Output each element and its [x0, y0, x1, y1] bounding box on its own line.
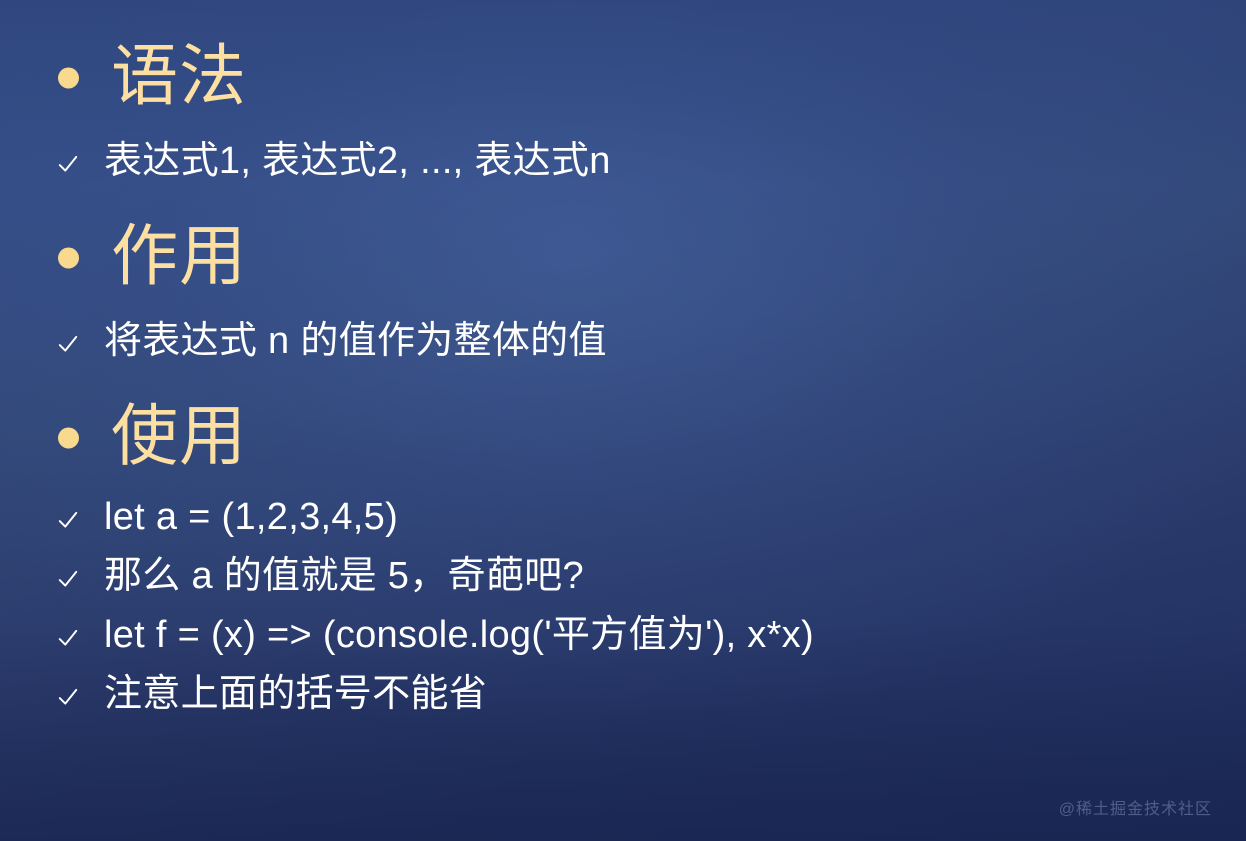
check-icon: [57, 568, 79, 590]
list-item-label: 表达式1, 表达式2, ..., 表达式n: [104, 141, 611, 179]
section-purpose: 作用 将表达式 n 的值作为整体的值: [0, 216, 1246, 300]
section-heading-row: 使用: [0, 396, 1246, 480]
list-item-label: 将表达式 n 的值作为整体的值: [104, 321, 607, 359]
list-item: 将表达式 n 的值作为整体的值: [0, 313, 1246, 370]
list-item-label: let f = (x) => (console.log('平方值为'), x*x…: [104, 615, 814, 653]
section-syntax: 语法 表达式1, 表达式2, ..., 表达式n: [0, 36, 1246, 120]
list-item: let f = (x) => (console.log('平方值为'), x*x…: [0, 606, 1246, 665]
section-heading-label: 语法: [111, 43, 247, 110]
check-icon: [57, 686, 79, 708]
watermark-label: @稀土掘金技术社区: [1059, 795, 1212, 819]
list-item: 注意上面的括号不能省: [0, 665, 1246, 724]
section-usage: 使用 let a = (1,2,3,4,5): [0, 396, 1246, 480]
list-item-label: let a = (1,2,3,4,5): [104, 497, 398, 535]
check-icon: [57, 153, 79, 175]
list-item: 那么 a 的值就是 5，奇葩吧?: [0, 547, 1246, 606]
slide-canvas: 语法 表达式1, 表达式2, ..., 表达式n 作用: [0, 0, 1246, 841]
dot-bullet-icon: [58, 68, 79, 89]
check-icon: [57, 509, 79, 531]
list-item-label: 那么 a 的值就是 5，奇葩吧?: [104, 556, 584, 594]
section-heading-label: 使用: [111, 403, 247, 470]
usage-list: let a = (1,2,3,4,5) 那么 a 的值就是 5，奇葩吧?: [0, 488, 1246, 724]
dot-bullet-icon: [58, 428, 79, 449]
section-heading-row: 作用: [0, 216, 1246, 300]
dot-bullet-icon: [58, 248, 79, 269]
section-heading-row: 语法: [0, 36, 1246, 120]
check-icon: [57, 627, 79, 649]
check-icon: [57, 333, 79, 355]
list-item: let a = (1,2,3,4,5): [0, 488, 1246, 547]
list-item: 表达式1, 表达式2, ..., 表达式n: [0, 133, 1246, 190]
list-item-label: 注意上面的括号不能省: [104, 674, 487, 712]
section-heading-label: 作用: [111, 223, 247, 290]
